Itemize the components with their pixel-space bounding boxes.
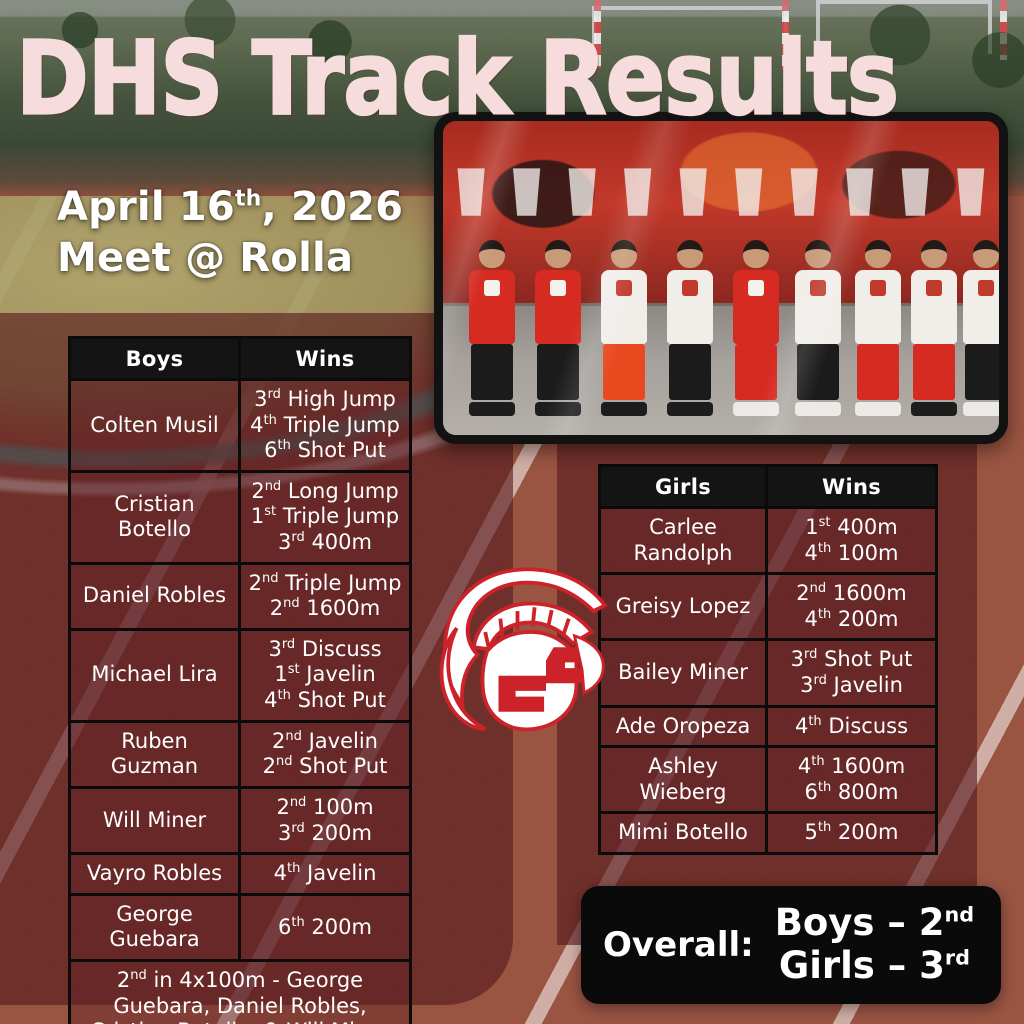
- win-place: 4: [805, 607, 818, 631]
- table-row: Ruben Guzman2nd Javelin2nd Shot Put: [70, 721, 411, 787]
- win-event: Javelin: [300, 662, 376, 686]
- win-place-suffix: th: [818, 541, 831, 556]
- team-photo-image: [443, 121, 999, 435]
- win-entry: 6th 200m: [247, 915, 403, 941]
- win-event: Long Jump: [281, 479, 398, 503]
- win-place: 4: [798, 754, 811, 778]
- athlete-wins: 3rd Shot Put3rd Javelin: [767, 640, 937, 706]
- win-place-suffix: rd: [804, 647, 817, 662]
- win-place: 3: [278, 530, 291, 554]
- table-row: Daniel Robles2nd Triple Jump2nd 1600m: [70, 563, 411, 629]
- win-entry: 4th 100m: [774, 541, 929, 567]
- meet-info: April 16th, 2026 Meet @ Rolla: [57, 182, 403, 284]
- win-event: Discuss: [295, 637, 381, 661]
- athlete-name: Ashley Wieberg: [600, 747, 767, 813]
- table-row: George Guebara6th 200m: [70, 894, 411, 960]
- athlete-wins: 2nd 100m3rd 200m: [240, 787, 411, 853]
- win-place: 3: [791, 647, 804, 671]
- win-place: 1: [251, 504, 264, 528]
- girls-table-body: Carlee Randolph1st 400m4th 100mGreisy Lo…: [600, 508, 937, 854]
- win-event: Shot Put: [292, 754, 387, 778]
- win-place-suffix: th: [818, 607, 831, 622]
- win-place-suffix: st: [819, 515, 831, 530]
- athlete-wins: 4th Javelin: [240, 854, 411, 895]
- win-place: 2: [251, 479, 264, 503]
- win-entry: 4th Discuss: [774, 714, 929, 740]
- athlete-wins: 5th 200m: [767, 813, 937, 854]
- athlete-wins: 3rd High Jump4th Triple Jump6th Shot Put: [240, 380, 411, 472]
- win-entry: 3rd 200m: [247, 821, 403, 847]
- win-place-suffix: st: [288, 662, 300, 677]
- win-event: Shot Put: [291, 438, 386, 462]
- relay-place: 2: [117, 968, 130, 992]
- win-place-suffix: nd: [810, 581, 827, 596]
- win-event: 200m: [831, 820, 898, 844]
- athlete-name: Ruben Guzman: [70, 721, 240, 787]
- win-entry: 1st Triple Jump: [247, 504, 403, 530]
- table-row: Mimi Botello5th 200m: [600, 813, 937, 854]
- table-row: Michael Lira3rd Discuss1st Javelin4th Sh…: [70, 629, 411, 721]
- win-event: Shot Put: [817, 647, 912, 671]
- athlete-name: Bailey Miner: [600, 640, 767, 706]
- table-row: Ade Oropeza4th Discuss: [600, 706, 937, 747]
- win-event: Javelin: [300, 861, 376, 885]
- girls-table-header-name: Girls: [600, 466, 767, 508]
- win-entry: 2nd Shot Put: [247, 754, 403, 780]
- win-entry: 3rd Shot Put: [774, 647, 929, 673]
- boys-table-body: Colten Musil3rd High Jump4th Triple Jump…: [70, 380, 411, 1024]
- athlete-name: George Guebara: [70, 894, 240, 960]
- win-place-suffix: th: [264, 413, 277, 428]
- win-event: 800m: [831, 780, 898, 804]
- win-entry: 4th Javelin: [247, 861, 403, 887]
- win-event: Javelin: [302, 729, 378, 753]
- meet-date: April 16th, 2026: [57, 182, 403, 233]
- win-entry: 5th 200m: [774, 820, 929, 846]
- win-place: 2: [263, 754, 276, 778]
- win-place: 4: [274, 861, 287, 885]
- win-entry: 2nd Long Jump: [247, 479, 403, 505]
- overall-girls-rank: Girls – 3rd: [768, 945, 981, 988]
- win-place: 3: [254, 387, 267, 411]
- athlete-wins: 3rd Discuss1st Javelin4th Shot Put: [240, 629, 411, 721]
- win-place-suffix: rd: [813, 673, 826, 688]
- athlete-name: Greisy Lopez: [600, 574, 767, 640]
- table-row: Cristian Botello2nd Long Jump1st Triple …: [70, 471, 411, 563]
- win-entry: 3rd Javelin: [774, 673, 929, 699]
- win-place: 2: [796, 581, 809, 605]
- overall-label: Overall:: [603, 925, 754, 965]
- win-place-suffix: nd: [290, 795, 307, 810]
- win-event: Discuss: [822, 714, 908, 738]
- spartan-helmet-icon: [432, 556, 622, 746]
- win-entry: 3rd 400m: [247, 530, 403, 556]
- table-row: Bailey Miner3rd Shot Put3rd Javelin: [600, 640, 937, 706]
- win-place: 4: [805, 541, 818, 565]
- win-place-suffix: th: [287, 861, 300, 876]
- athlete-wins: 4th Discuss: [767, 706, 937, 747]
- win-event: 1600m: [300, 596, 381, 620]
- win-place: 6: [264, 438, 277, 462]
- team-photo: [434, 112, 1008, 444]
- win-entry: 2nd Javelin: [247, 729, 403, 755]
- win-place: 4: [795, 714, 808, 738]
- boys-table-header-wins: Wins: [240, 338, 411, 380]
- boys-table-header-name: Boys: [70, 338, 240, 380]
- athlete-name: Michael Lira: [70, 629, 240, 721]
- win-place-suffix: nd: [285, 729, 302, 744]
- win-place-suffix: th: [818, 820, 831, 835]
- relay-place-suffix: nd: [130, 968, 147, 983]
- win-place: 3: [800, 673, 813, 697]
- win-event: 1600m: [826, 581, 907, 605]
- win-place-suffix: rd: [282, 637, 295, 652]
- win-place: 3: [268, 637, 281, 661]
- win-place: 4: [264, 688, 277, 712]
- win-entry: 2nd Triple Jump: [247, 571, 403, 597]
- win-event: 200m: [831, 607, 898, 631]
- win-entry: 2nd 1600m: [247, 596, 403, 622]
- table-row: Will Miner2nd 100m3rd 200m: [70, 787, 411, 853]
- win-place-suffix: th: [808, 714, 821, 729]
- win-place-suffix: nd: [276, 754, 293, 769]
- athlete-name: Will Miner: [70, 787, 240, 853]
- girls-results-table: Girls Wins Carlee Randolph1st 400m4th 10…: [598, 464, 938, 855]
- win-place-suffix: nd: [262, 571, 279, 586]
- win-place-suffix: rd: [268, 387, 281, 402]
- athletes-group: [443, 178, 999, 417]
- win-event: 200m: [305, 915, 372, 939]
- win-place: 4: [250, 413, 263, 437]
- athlete-wins: 2nd Javelin2nd Shot Put: [240, 721, 411, 787]
- win-event: Shot Put: [291, 688, 386, 712]
- win-place-suffix: th: [291, 915, 304, 930]
- win-entry: 6th 800m: [774, 780, 929, 806]
- win-entry: 2nd 1600m: [774, 581, 929, 607]
- win-place: 2: [249, 571, 262, 595]
- win-event: 1600m: [825, 754, 906, 778]
- athlete-name: Cristian Botello: [70, 471, 240, 563]
- win-entry: 1st 400m: [774, 515, 929, 541]
- win-entry: 4th 200m: [774, 607, 929, 633]
- win-place-suffix: th: [278, 688, 291, 703]
- win-event: 100m: [306, 795, 373, 819]
- win-entry: 4th 1600m: [774, 754, 929, 780]
- athlete-wins: 6th 200m: [240, 894, 411, 960]
- win-entry: 1st Javelin: [247, 662, 403, 688]
- win-place: 2: [270, 596, 283, 620]
- win-event: Triple Jump: [278, 571, 401, 595]
- athlete-wins: 4th 1600m6th 800m: [767, 747, 937, 813]
- win-place: 5: [805, 820, 818, 844]
- win-entry: 4th Triple Jump: [247, 413, 403, 439]
- table-row: Ashley Wieberg4th 1600m6th 800m: [600, 747, 937, 813]
- boys-results-table: Boys Wins Colten Musil3rd High Jump4th T…: [68, 336, 412, 1024]
- win-place-suffix: rd: [291, 530, 304, 545]
- win-event: High Jump: [281, 387, 396, 411]
- win-place-suffix: rd: [291, 821, 304, 836]
- athlete-name: Vayro Robles: [70, 854, 240, 895]
- boys-table-header-row: Boys Wins: [70, 338, 411, 380]
- table-row: Vayro Robles4th Javelin: [70, 854, 411, 895]
- win-event: Javelin: [827, 673, 903, 697]
- win-event: 400m: [831, 515, 898, 539]
- win-place-suffix: th: [278, 438, 291, 453]
- date-ordinal-suffix: th: [235, 187, 262, 212]
- win-entry: 3rd Discuss: [247, 637, 403, 663]
- overall-results-box: Overall: Boys – 2nd Girls – 3rd: [581, 886, 1001, 1004]
- win-place-suffix: th: [818, 780, 831, 795]
- athlete-wins: 2nd Triple Jump2nd 1600m: [240, 563, 411, 629]
- relay-result: 2nd in 4x100m - George Guebara, Daniel R…: [70, 960, 411, 1024]
- win-place-suffix: st: [264, 504, 276, 519]
- table-row: Greisy Lopez2nd 1600m4th 200m: [600, 574, 937, 640]
- girls-table-header-wins: Wins: [767, 466, 937, 508]
- win-place-suffix: th: [811, 754, 824, 769]
- page-title: DHS Track Results: [16, 26, 1024, 133]
- relay-row: 2nd in 4x100m - George Guebara, Daniel R…: [70, 960, 411, 1024]
- athlete-wins: 2nd Long Jump1st Triple Jump3rd 400m: [240, 471, 411, 563]
- overall-rankings: Boys – 2nd Girls – 3rd: [768, 902, 981, 988]
- win-place: 1: [805, 515, 818, 539]
- win-place: 6: [805, 780, 818, 804]
- win-place-suffix: nd: [265, 479, 282, 494]
- girls-table-header-row: Girls Wins: [600, 466, 937, 508]
- win-place: 2: [272, 729, 285, 753]
- athlete-name: Mimi Botello: [600, 813, 767, 854]
- win-place: 1: [274, 662, 287, 686]
- table-row: Carlee Randolph1st 400m4th 100m: [600, 508, 937, 574]
- win-entry: 4th Shot Put: [247, 688, 403, 714]
- win-event: Triple Jump: [276, 504, 399, 528]
- athlete-name: Colten Musil: [70, 380, 240, 472]
- win-event: 100m: [831, 541, 898, 565]
- athlete-wins: 1st 400m4th 100m: [767, 508, 937, 574]
- win-entry: 3rd High Jump: [247, 387, 403, 413]
- athlete-name: Ade Oropeza: [600, 706, 767, 747]
- athlete-name: Carlee Randolph: [600, 508, 767, 574]
- meet-location: Meet @ Rolla: [57, 233, 403, 284]
- athlete-wins: 2nd 1600m4th 200m: [767, 574, 937, 640]
- win-entry: 6th Shot Put: [247, 438, 403, 464]
- athlete-name: Daniel Robles: [70, 563, 240, 629]
- win-entry: 2nd 100m: [247, 795, 403, 821]
- win-place-suffix: nd: [283, 596, 300, 611]
- overall-boys-rank: Boys – 2nd: [768, 902, 981, 945]
- win-place: 2: [276, 795, 289, 819]
- win-place: 6: [278, 915, 291, 939]
- win-event: Triple Jump: [277, 413, 400, 437]
- track-results-poster: DHS Track Results April 16th, 2026 Meet …: [0, 0, 1024, 1024]
- win-place: 3: [278, 821, 291, 845]
- table-row: Colten Musil3rd High Jump4th Triple Jump…: [70, 380, 411, 472]
- win-event: 200m: [305, 821, 372, 845]
- win-event: 400m: [305, 530, 372, 554]
